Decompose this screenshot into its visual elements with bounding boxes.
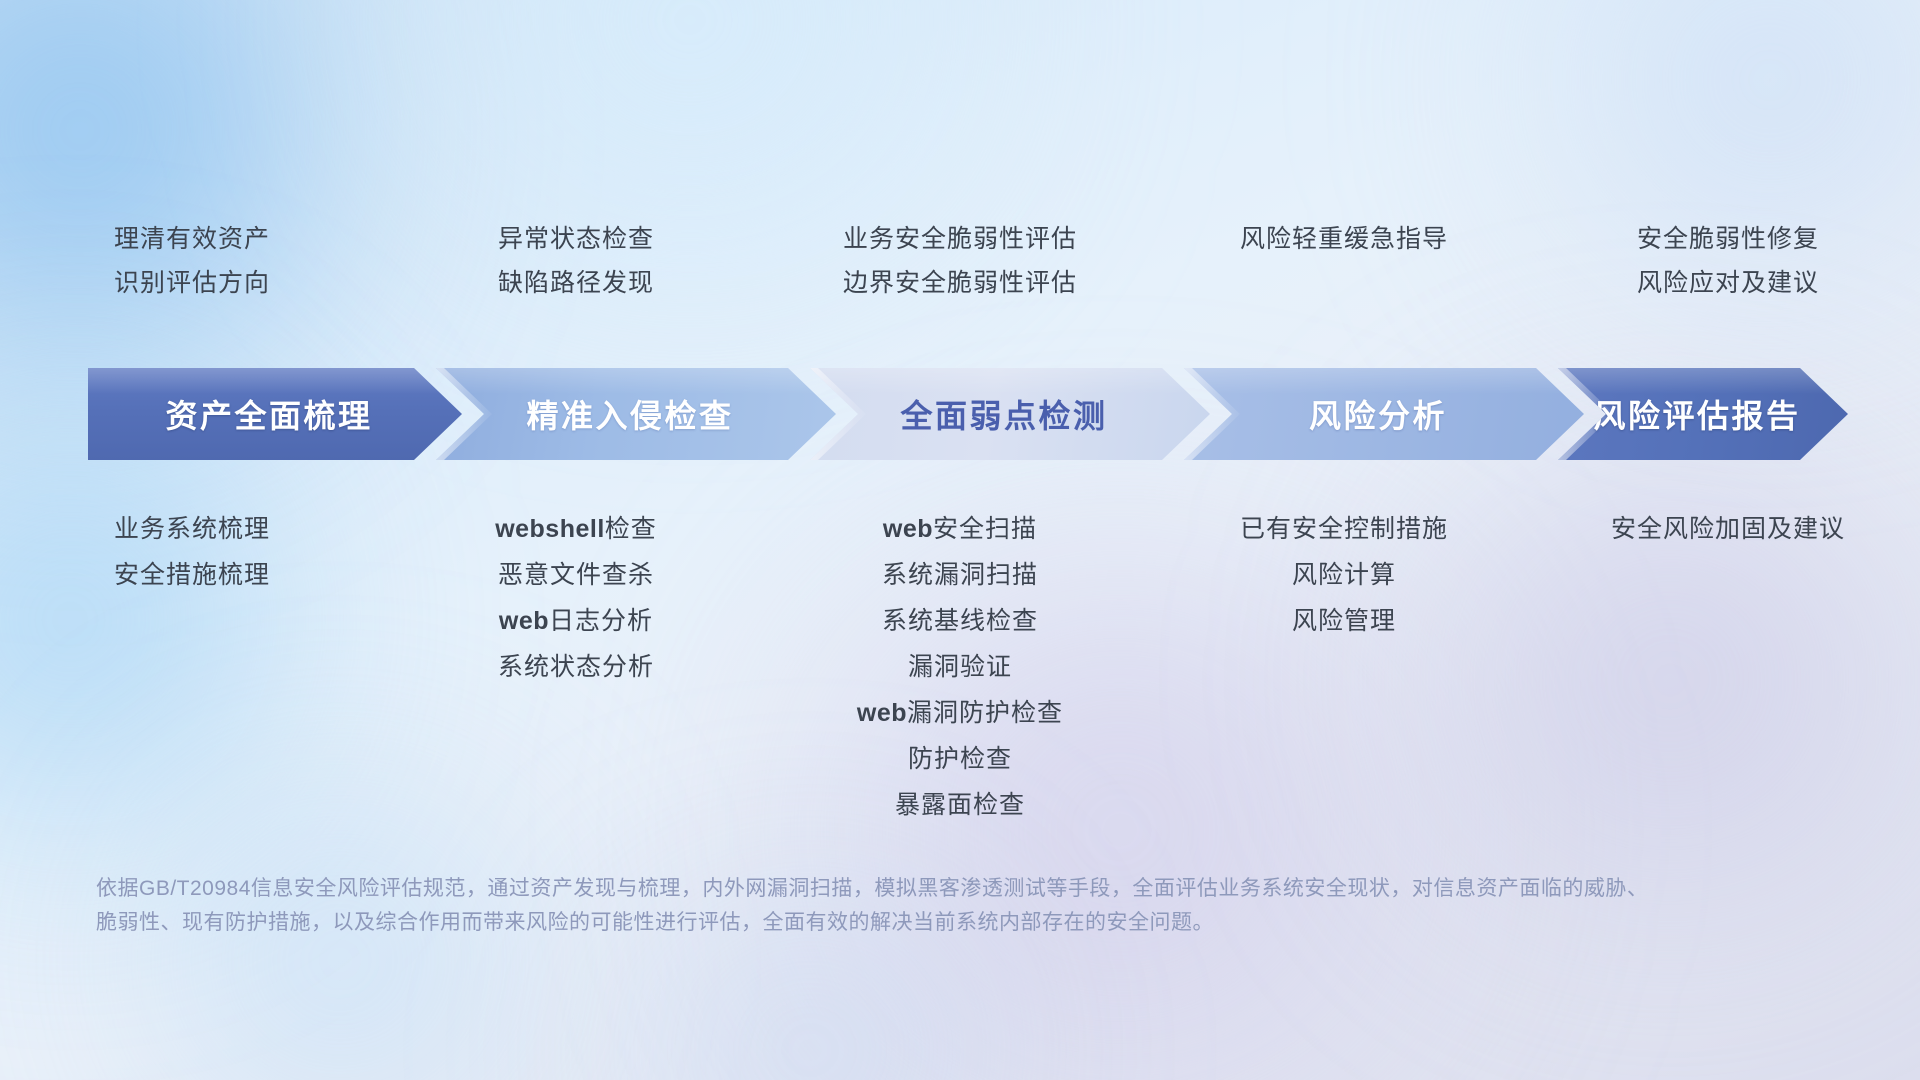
detail-list-item: webshell检查 [495, 515, 657, 544]
detail-list-item: 漏洞验证 [908, 653, 1012, 682]
detail-item-text: 业务系统梳理 [114, 515, 270, 543]
detail-item-text: 日志分析 [549, 607, 653, 635]
detail-item-text: 安全扫描 [933, 515, 1037, 543]
chevron-stage-risk-report[interactable]: 风险评估报告 [1558, 368, 1848, 460]
top-caption-line: 风险轻重缓急指导 [1240, 225, 1448, 255]
detail-list-weakness-detection: web安全扫描系统漏洞扫描系统基线检查漏洞验证web漏洞防护检查防护检查暴露面检… [768, 505, 1152, 820]
detail-item-text: 恶意文件查杀 [498, 561, 654, 589]
top-caption-line: 风险应对及建议 [1637, 269, 1819, 299]
detail-list-item: 恶意文件查杀 [498, 561, 654, 590]
detail-item-text: 风险计算 [1292, 561, 1396, 589]
top-caption-column-intrusion-check: 异常状态检查缺陷路径发现 [384, 225, 768, 345]
top-caption-column-risk-analysis: 风险轻重缓急指导 [1152, 225, 1536, 345]
stage-top-captions: 理清有效资产识别评估方向异常状态检查缺陷路径发现业务安全脆弱性评估边界安全脆弱性… [0, 225, 1920, 345]
detail-list-item: web日志分析 [499, 607, 653, 636]
top-caption-line: 异常状态检查 [498, 225, 654, 255]
chevron-label: 风险评估报告 [1593, 391, 1800, 437]
chevron-label: 精准入侵检查 [526, 391, 733, 437]
chevron-stage-intrusion-check[interactable]: 精准入侵检查 [436, 368, 836, 460]
detail-list-intrusion-check: webshell检查恶意文件查杀web日志分析系统状态分析 [384, 505, 768, 820]
detail-list-item: web安全扫描 [883, 515, 1037, 544]
chevron-label: 风险分析 [1309, 391, 1447, 437]
top-caption-line: 缺陷路径发现 [498, 269, 654, 299]
stage-detail-lists: 业务系统梳理安全措施梳理webshell检查恶意文件查杀web日志分析系统状态分… [0, 505, 1920, 820]
detail-item-text: 防护检查 [908, 745, 1012, 773]
detail-item-keyword: webshell [495, 515, 605, 543]
detail-list-item: 安全风险加固及建议 [1611, 515, 1845, 544]
detail-item-text: 漏洞防护检查 [907, 699, 1063, 727]
detail-list-item: 系统漏洞扫描 [882, 561, 1038, 590]
top-caption-column-asset-inventory: 理清有效资产识别评估方向 [0, 225, 384, 345]
detail-item-text: 风险管理 [1292, 607, 1396, 635]
detail-list-item: 系统状态分析 [498, 653, 654, 682]
detail-item-text: 安全措施梳理 [114, 561, 270, 589]
top-caption-line: 识别评估方向 [114, 269, 270, 299]
detail-item-keyword: web [857, 699, 907, 727]
process-chevron-band: 资产全面梳理精准入侵检查全面弱点检测风险分析风险评估报告 [88, 368, 1848, 460]
top-caption-line: 理清有效资产 [114, 225, 270, 255]
detail-item-keyword: web [883, 515, 933, 543]
chevron-stage-weakness-detection[interactable]: 全面弱点检测 [810, 368, 1210, 460]
top-caption-column-risk-report: 安全脆弱性修复风险应对及建议 [1536, 225, 1920, 345]
detail-list-risk-analysis: 已有安全控制措施风险计算风险管理 [1152, 505, 1536, 820]
detail-list-item: 风险管理 [1292, 607, 1396, 636]
detail-item-text: 已有安全控制措施 [1240, 515, 1448, 543]
detail-list-item: 风险计算 [1292, 561, 1396, 590]
detail-list-item: 系统基线检查 [882, 607, 1038, 636]
detail-list-item: 安全措施梳理 [114, 561, 270, 590]
detail-item-text: 系统漏洞扫描 [882, 561, 1038, 589]
detail-list-asset-inventory: 业务系统梳理安全措施梳理 [0, 505, 384, 820]
detail-item-text: 检查 [605, 515, 657, 543]
detail-list-item: web漏洞防护检查 [857, 699, 1063, 728]
detail-item-keyword: web [499, 607, 549, 635]
top-caption-line: 业务安全脆弱性评估 [843, 225, 1077, 255]
detail-item-text: 系统基线检查 [882, 607, 1038, 635]
slide-canvas: 理清有效资产识别评估方向异常状态检查缺陷路径发现业务安全脆弱性评估边界安全脆弱性… [0, 0, 1920, 1080]
detail-list-item: 防护检查 [908, 745, 1012, 774]
detail-list-risk-report: 安全风险加固及建议 [1536, 505, 1920, 820]
top-caption-line: 边界安全脆弱性评估 [843, 269, 1077, 299]
detail-list-item: 业务系统梳理 [114, 515, 270, 544]
top-caption-column-weakness-detection: 业务安全脆弱性评估边界安全脆弱性评估 [768, 225, 1152, 345]
footer-description: 依据GB/T20984信息安全风险评估规范，通过资产发现与梳理，内外网漏洞扫描，… [96, 872, 1656, 940]
detail-list-item: 已有安全控制措施 [1240, 515, 1448, 544]
detail-list-item: 暴露面检查 [895, 791, 1025, 820]
detail-item-text: 安全风险加固及建议 [1611, 515, 1845, 543]
chevron-label: 资产全面梳理 [165, 391, 372, 437]
top-caption-line: 安全脆弱性修复 [1637, 225, 1819, 255]
detail-item-text: 系统状态分析 [498, 653, 654, 681]
chevron-stage-risk-analysis[interactable]: 风险分析 [1184, 368, 1584, 460]
detail-item-text: 漏洞验证 [908, 653, 1012, 681]
detail-item-text: 暴露面检查 [895, 791, 1025, 819]
chevron-stage-asset-inventory[interactable]: 资产全面梳理 [88, 368, 462, 460]
footer-paragraph: 依据GB/T20984信息安全风险评估规范，通过资产发现与梳理，内外网漏洞扫描，… [96, 872, 1656, 940]
chevron-label: 全面弱点检测 [900, 391, 1107, 437]
